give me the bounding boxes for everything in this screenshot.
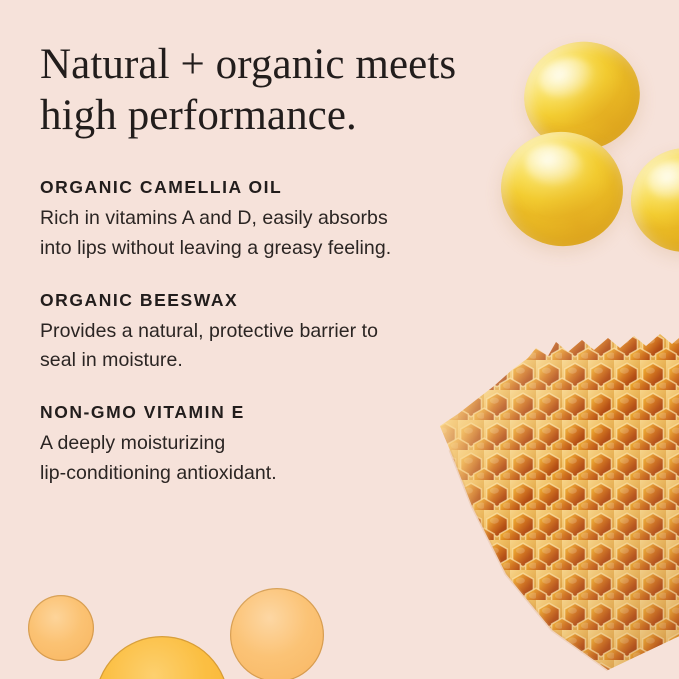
benefit-item-vitamin-e: NON-GMO VITAMIN E A deeply moisturizing … — [40, 403, 510, 489]
headline-line-2: high performance. — [40, 92, 357, 139]
benefit-title: NON-GMO VITAMIN E — [40, 403, 510, 422]
benefit-list: ORGANIC CAMELLIA OIL Rich in vitamins A … — [40, 178, 510, 489]
benefit-description: A deeply moisturizing lip-conditioning a… — [40, 429, 510, 488]
benefit-description: Rich in vitamins A and D, easily absorbs… — [40, 204, 510, 263]
benefit-description-line: Rich in vitamins A and D, easily absorbs — [40, 204, 510, 234]
headline-line-1: Natural + organic meets — [40, 41, 456, 88]
benefit-item-beeswax: ORGANIC BEESWAX Provides a natural, prot… — [40, 291, 510, 377]
benefit-description: Provides a natural, protective barrier t… — [40, 317, 510, 376]
benefit-description-line: lip-conditioning antioxidant. — [40, 459, 510, 489]
text-layer: Natural + organic meets high performance… — [0, 0, 679, 679]
benefit-description-line: Provides a natural, protective barrier t… — [40, 317, 510, 347]
promo-graphic: Natural + organic meets high performance… — [0, 0, 679, 679]
benefit-title: ORGANIC CAMELLIA OIL — [40, 178, 510, 197]
benefit-description-line: into lips without leaving a greasy feeli… — [40, 234, 510, 264]
benefit-item-camellia-oil: ORGANIC CAMELLIA OIL Rich in vitamins A … — [40, 178, 510, 264]
page-title: Natural + organic meets high performance… — [40, 40, 510, 141]
benefit-description-line: seal in moisture. — [40, 346, 510, 376]
benefit-title: ORGANIC BEESWAX — [40, 291, 510, 310]
benefit-description-line: A deeply moisturizing — [40, 429, 510, 459]
